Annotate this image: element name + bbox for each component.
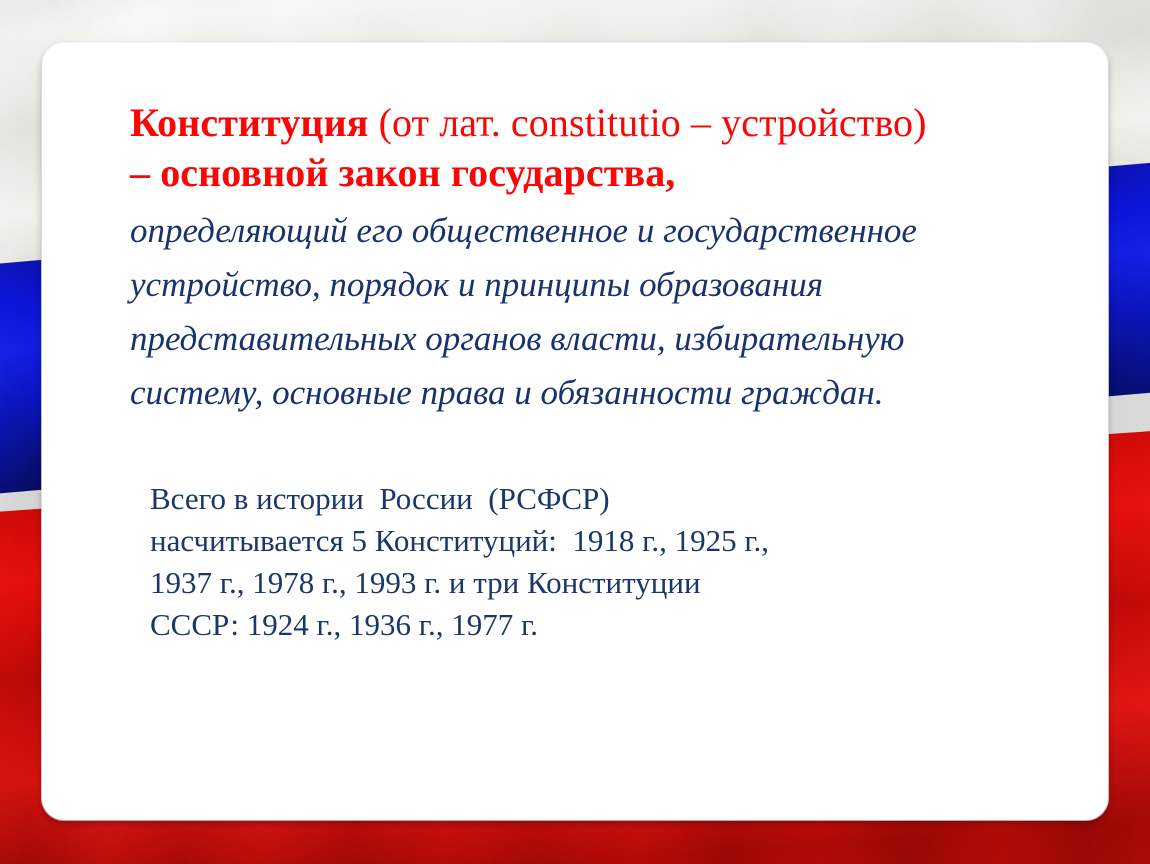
definition-heading: Конституция (от лат. constitutio – устро… — [130, 98, 1068, 198]
definition-body: определяющий его общественное и государс… — [130, 204, 1010, 420]
content-spacer — [130, 420, 1068, 478]
history-line: насчитывается 5 Конституций: 1918 г., 19… — [150, 520, 1068, 562]
card-content: Конституция (от лат. constitutio – устро… — [130, 98, 1068, 646]
heading-definition-lead: – основной закон государства, — [130, 150, 675, 195]
heading-parenthetical: (от лат. constitutio – устройство) — [368, 100, 926, 145]
history-line: СССР: 1924 г., 1936 г., 1977 г. — [150, 604, 1068, 646]
history-line: Всего в истории России (РСФСР) — [150, 478, 1068, 520]
slide-canvas: Конституция (от лат. constitutio – устро… — [0, 0, 1150, 864]
content-card: Конституция (от лат. constitutio – устро… — [42, 43, 1108, 820]
history-line: 1937 г., 1978 г., 1993 г. и три Конститу… — [150, 562, 1068, 604]
heading-term: Конституция — [130, 100, 368, 145]
history-paragraph: Всего в истории России (РСФСР) насчитыва… — [130, 478, 1068, 646]
